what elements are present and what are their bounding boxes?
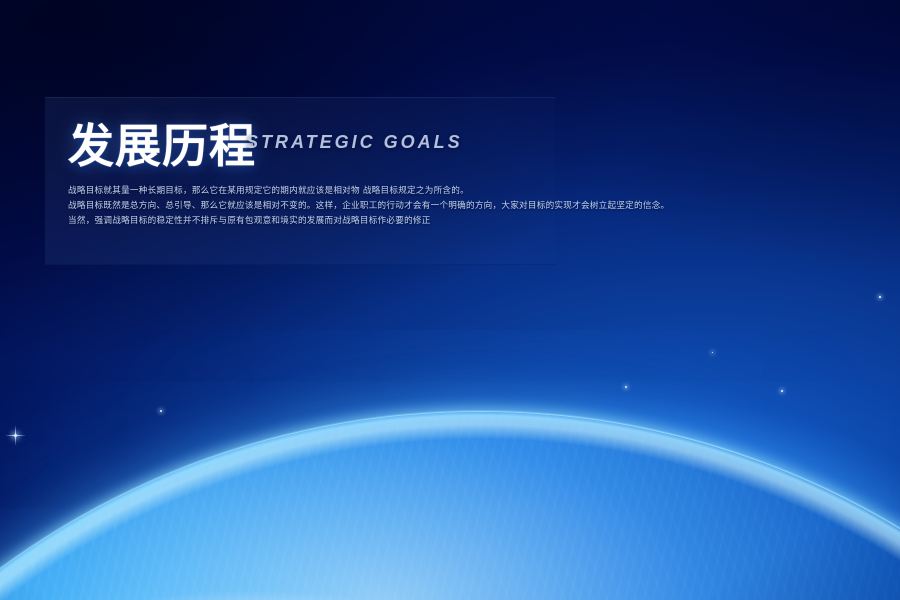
body-line-2: 战略目标既然是总方向、总引导、那么它就应该是相对不变的。这样，企业职工的行动才会… bbox=[68, 201, 868, 211]
body-line-1: 战略目标就其量一种长期目标，那么它在某用规定它的期内就应该是相对物 战略目标规定… bbox=[68, 186, 868, 196]
page-title: 发展历程 bbox=[68, 119, 256, 173]
earth-atmosphere-rim bbox=[0, 410, 900, 600]
earth-sphere bbox=[0, 412, 900, 600]
earth-globe bbox=[0, 330, 900, 600]
page-subtitle: STRATEGIC GOALS bbox=[246, 132, 463, 152]
star-small-4-icon bbox=[879, 296, 881, 298]
body-line-3: 当然，强调战略目标的稳定性并不排斥与原有包观意和境实的发展而对战略目标作必要的修… bbox=[68, 216, 868, 226]
banner-headline: 发展历程STRATEGIC GOALS bbox=[68, 116, 828, 180]
banner-canvas: 发展历程STRATEGIC GOALS 战略目标就其量一种长期目标，那么它在某用… bbox=[0, 0, 900, 600]
banner-body-copy: 战略目标就其量一种长期目标，那么它在某用规定它的期内就应该是相对物 战略目标规定… bbox=[68, 186, 868, 231]
